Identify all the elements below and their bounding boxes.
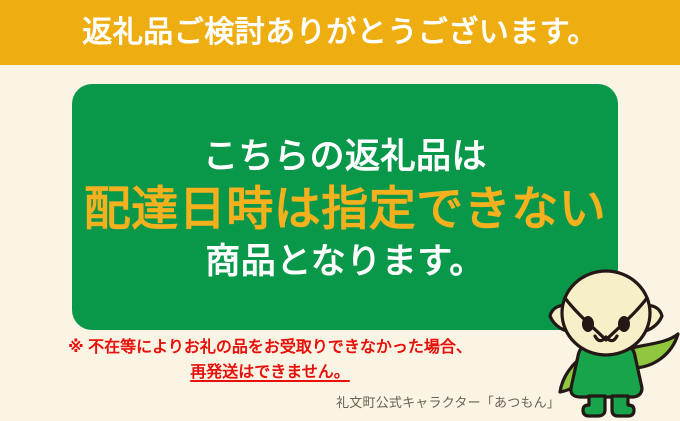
caution-line-2: 再発送はできません。 (0, 361, 540, 386)
mascot-right-boot (612, 396, 634, 416)
notice-line-3: 商品となります。 (205, 242, 484, 281)
mascot-right-eye (618, 316, 630, 332)
mascot-left-boot (583, 396, 605, 416)
notice-line-highlight: 配達日時は指定できない (84, 183, 607, 236)
mascot-illustration (532, 258, 680, 421)
mascot-head (562, 271, 650, 355)
caution-line-1: ※ 不在等によりお礼の品をお受取りできなかった場合、 (0, 336, 540, 361)
header-title: 返礼品ご検討ありがとうございます。 (82, 18, 598, 48)
header-bar: 返礼品ご検討ありがとうございます。 (0, 0, 680, 65)
mascot-character-atsumon (532, 258, 680, 421)
mascot-left-eye (582, 316, 594, 332)
caution-block: ※ 不在等によりお礼の品をお受取りできなかった場合、 再発送はできません。 (0, 336, 540, 386)
mascot-caption: 礼文町公式キャラクター「あつもん」 (330, 392, 560, 411)
notice-line-1: こちらの返礼品は (203, 137, 487, 176)
reward-notice-banner: 返礼品ご検討ありがとうございます。 こちらの返礼品は 配達日時は指定できない 商… (0, 0, 680, 421)
